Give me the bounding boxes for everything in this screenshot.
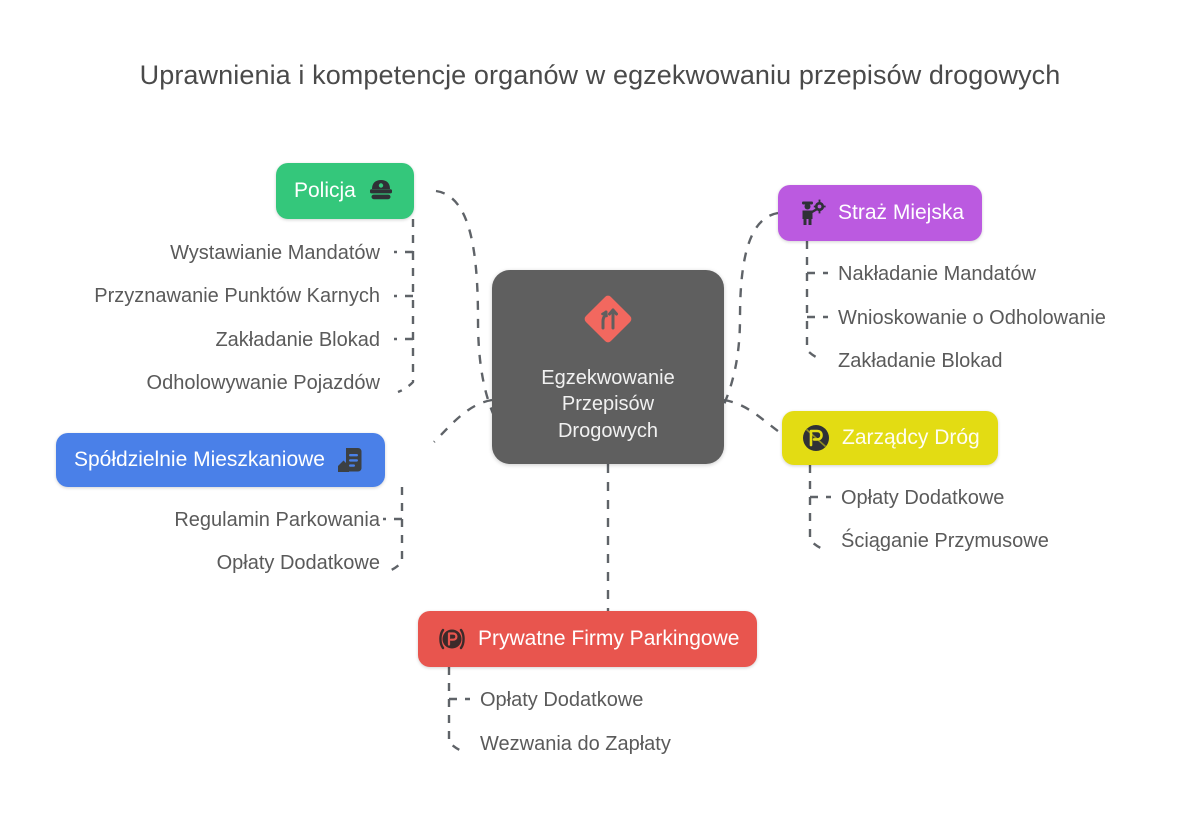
leaf-straz-miejska-3: Zakładanie Blokad <box>838 350 1003 373</box>
leaf-straz-miejska-1: Nakładanie Mandatów <box>838 263 1036 286</box>
branch-node-policja[interactable]: Policja <box>276 163 414 219</box>
connector-center-zarzadcy <box>724 400 782 434</box>
police-cap-icon <box>366 176 396 206</box>
connector-straz-leaves <box>807 273 822 360</box>
connector-prywatne-leaves <box>449 699 464 752</box>
leaf-policja-2: Przyznawanie Punktów Karnych <box>94 285 380 308</box>
leaf-policja-4: Odholowywanie Pojazdów <box>147 372 380 395</box>
branch-node-spoldzielnie-mieszkaniowe[interactable]: Spółdzielnie Mieszkaniowe <box>56 433 385 487</box>
municipal-guard-badge-icon <box>796 197 828 229</box>
leaf-policja-1: Wystawianie Mandatów <box>170 242 380 265</box>
leaf-zarzadcy-drog-2: Ściąganie Przymusowe <box>841 530 1049 553</box>
branch-label-zarzadcy-drog: Zarządcy Dróg <box>842 426 980 450</box>
parking-p-brackets-icon <box>436 623 468 655</box>
branch-label-spoldzielnie-mieszkaniowe: Spółdzielnie Mieszkaniowe <box>74 448 325 472</box>
connector-center-spoldzielnie <box>434 400 492 442</box>
leaf-spoldzielnie-2: Opłaty Dodatkowe <box>217 552 380 575</box>
leaf-spoldzielnie-1: Regulamin Parkowania <box>174 509 380 532</box>
branch-node-prywatne-firmy-parkingowe[interactable]: Prywatne Firmy Parkingowe <box>418 611 757 667</box>
branch-node-zarzadcy-drog[interactable]: Zarządcy Dróg <box>782 411 998 465</box>
leaf-prywatne-firmy-1: Opłaty Dodatkowe <box>480 689 643 712</box>
central-label-line-1: Egzekwowanie <box>541 365 674 391</box>
central-node-label: Egzekwowanie Przepisów Drogowych <box>541 365 674 444</box>
central-label-line-3: Drogowych <box>541 418 674 444</box>
branch-label-straz-miejska: Straż Miejska <box>838 201 964 225</box>
leaf-straz-miejska-2: Wnioskowanie o Odholowanie <box>838 307 1106 330</box>
connector-zarzadcy-leaves <box>810 497 825 550</box>
connector-policja-leaves <box>398 252 413 392</box>
branch-label-prywatne-firmy-parkingowe: Prywatne Firmy Parkingowe <box>478 627 739 651</box>
housing-document-icon <box>335 444 367 476</box>
leaf-policja-3: Zakładanie Blokad <box>215 329 380 352</box>
leaf-zarzadcy-drog-1: Opłaty Dodatkowe <box>841 487 1004 510</box>
central-label-line-2: Przepisów <box>541 391 674 417</box>
leaf-prywatne-firmy-2: Wezwania do Zapłaty <box>480 733 671 756</box>
branch-label-policja: Policja <box>294 179 356 203</box>
connector-spoldzielnie-leaves <box>387 519 402 572</box>
central-node[interactable]: Egzekwowanie Przepisów Drogowych <box>492 270 724 464</box>
mindmap-canvas: Uprawnienia i kompetencje organów w egze… <box>0 0 1200 816</box>
parking-p-circle-icon <box>800 422 832 454</box>
page-title: Uprawnienia i kompetencje organów w egze… <box>0 60 1200 91</box>
road-merge-diamond-sign-icon <box>579 290 637 353</box>
branch-node-straz-miejska[interactable]: Straż Miejska <box>778 185 982 241</box>
